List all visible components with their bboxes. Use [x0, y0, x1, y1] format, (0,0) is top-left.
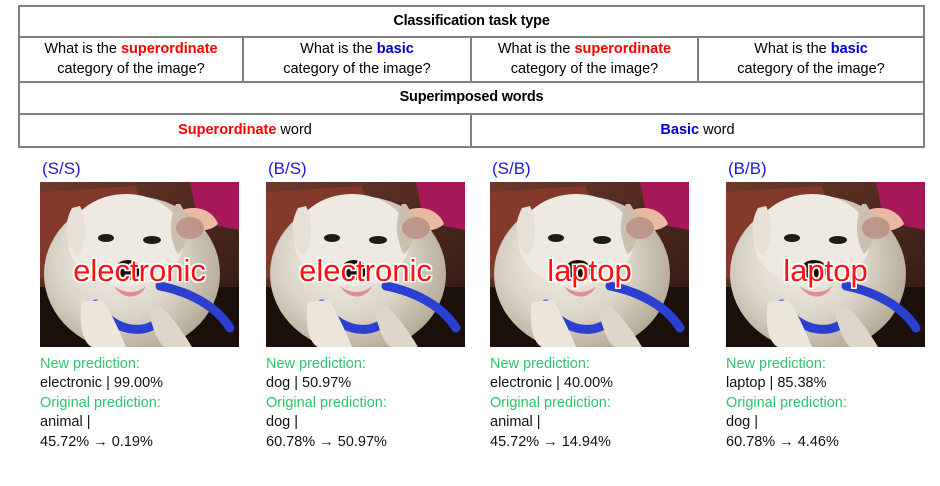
prediction-block-ss: New prediction: electronic | 99.00% Orig… — [40, 347, 239, 452]
question-cell-3: What is the superordinate category of th… — [471, 37, 698, 82]
new-prediction-label-sb: New prediction: — [490, 355, 689, 374]
new-prediction-value-sb: electronic | 40.00% — [490, 374, 689, 393]
table-row-word-types: Superordinate word Basic word — [19, 114, 924, 147]
original-prediction-change-sb: 45.72% → 14.94% — [490, 433, 689, 452]
new-prediction-label-bb: New prediction: — [726, 355, 925, 374]
overlay-word-bb: laptop — [726, 255, 925, 286]
original-prediction-label-bs: Original prediction: — [266, 394, 465, 413]
table-row-superimposed-header: Superimposed words — [19, 82, 924, 114]
panel-ss: (S/S) — [40, 160, 239, 452]
word-type-rest-basic: word — [699, 122, 734, 138]
panel-bb: (B/B) laptop New prediction: laptop | 85… — [726, 160, 925, 452]
question-emphasis-4: basic — [831, 41, 868, 57]
word-type-emphasis-basic: Basic — [660, 122, 699, 138]
panel-tag-ss: (S/S) — [40, 160, 239, 182]
prediction-block-sb: New prediction: electronic | 40.00% Orig… — [490, 347, 689, 452]
table-row-title: Classification task type — [19, 6, 924, 37]
original-prediction-class-sb: animal | — [490, 413, 689, 432]
question-suffix-3: category of the image? — [511, 61, 659, 77]
question-emphasis-1: superordinate — [121, 41, 218, 57]
panel-tag-bb: (B/B) — [726, 160, 925, 182]
classification-task-table: Classification task type What is the sup… — [18, 5, 925, 148]
original-prediction-change-bs: 60.78% → 50.97% — [266, 433, 465, 452]
word-type-rest-superordinate: word — [276, 122, 311, 138]
question-prefix-1: What is the — [44, 41, 121, 57]
new-prediction-value-ss: electronic | 99.00% — [40, 374, 239, 393]
stimulus-image-sb: laptop — [490, 182, 689, 347]
overlay-word-sb: laptop — [490, 255, 689, 286]
question-suffix-1: category of the image? — [57, 61, 205, 77]
word-type-emphasis-superordinate: Superordinate — [178, 122, 276, 138]
superimposed-words-cell: Superimposed words — [19, 82, 924, 114]
original-prediction-class-ss: animal | — [40, 413, 239, 432]
original-prediction-change-ss: 45.72% → 0.19% — [40, 433, 239, 452]
new-prediction-value-bb: laptop | 85.38% — [726, 374, 925, 393]
question-suffix-4: category of the image? — [737, 61, 885, 77]
question-prefix-4: What is the — [754, 41, 831, 57]
question-cell-2: What is the basic category of the image? — [243, 37, 471, 82]
table-row-questions: What is the superordinate category of th… — [19, 37, 924, 82]
original-prediction-label-bb: Original prediction: — [726, 394, 925, 413]
original-prediction-label-sb: Original prediction: — [490, 394, 689, 413]
overlay-word-bs: electronic — [266, 255, 465, 286]
new-prediction-label-bs: New prediction: — [266, 355, 465, 374]
question-emphasis-3: superordinate — [574, 41, 671, 57]
word-type-cell-basic: Basic word — [471, 114, 924, 147]
question-suffix-2: category of the image? — [283, 61, 431, 77]
original-prediction-label-ss: Original prediction: — [40, 394, 239, 413]
original-prediction-class-bb: dog | — [726, 413, 925, 432]
table-title-cell: Classification task type — [19, 6, 924, 37]
new-prediction-label-ss: New prediction: — [40, 355, 239, 374]
panel-sb: (S/B) laptop New prediction: electronic … — [490, 160, 689, 452]
panel-tag-sb: (S/B) — [490, 160, 689, 182]
prediction-block-bs: New prediction: dog | 50.97% Original pr… — [266, 347, 465, 452]
question-cell-1: What is the superordinate category of th… — [19, 37, 243, 82]
prediction-block-bb: New prediction: laptop | 85.38% Original… — [726, 347, 925, 452]
stimulus-image-ss: electronic — [40, 182, 239, 347]
original-prediction-change-bb: 60.78% → 4.46% — [726, 433, 925, 452]
question-prefix-2: What is the — [300, 41, 377, 57]
question-cell-4: What is the basic category of the image? — [698, 37, 924, 82]
stimulus-image-bb: laptop — [726, 182, 925, 347]
word-type-cell-superordinate: Superordinate word — [19, 114, 471, 147]
original-prediction-class-bs: dog | — [266, 413, 465, 432]
question-emphasis-2: basic — [377, 41, 414, 57]
panel-bs: (B/S) electronic New prediction: dog | 5… — [266, 160, 465, 452]
panel-tag-bs: (B/S) — [266, 160, 465, 182]
overlay-word-ss: electronic — [40, 255, 239, 286]
stimulus-image-bs: electronic — [266, 182, 465, 347]
question-prefix-3: What is the — [498, 41, 575, 57]
new-prediction-value-bs: dog | 50.97% — [266, 374, 465, 393]
